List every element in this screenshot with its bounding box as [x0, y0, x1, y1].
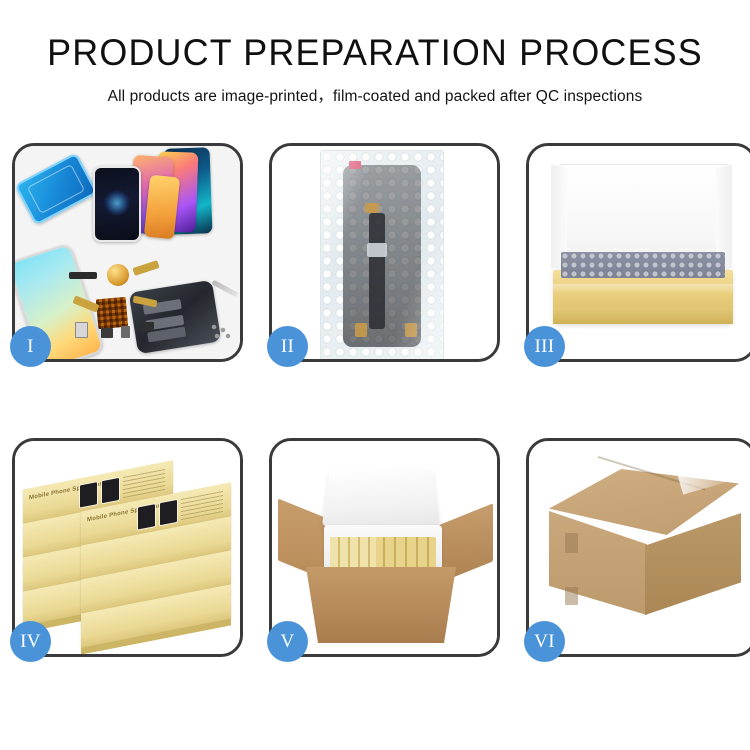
step-badge-5: V: [267, 621, 308, 662]
gold-contact-grid-icon: [96, 297, 129, 330]
driver-ic-icon: [367, 243, 387, 257]
step-1-illustration: [15, 146, 240, 359]
process-step-panel-2[interactable]: II: [269, 143, 500, 362]
tempered-glass-screen-icon: [93, 166, 141, 242]
flex-cable-icon-1: [132, 260, 159, 276]
screen-flex-cable-icon: [369, 213, 385, 329]
box-lip-highlight: [553, 284, 733, 294]
phone-back-housing-icon: [129, 280, 222, 354]
carton-tape-mark-1: [565, 533, 578, 553]
retail-box-thumbnail-2: [101, 477, 120, 505]
small-part-icon-1: [75, 322, 88, 338]
box-front-side: [553, 308, 733, 324]
gold-connector-icon-2: [355, 323, 367, 337]
yellow-inner-box-icon: [553, 270, 733, 324]
process-step-panel-3[interactable]: III: [526, 143, 750, 362]
step-4-illustration: Mobile Phone Spare Parts: [15, 441, 240, 654]
pink-qc-label-icon: [349, 161, 361, 169]
step-5-illustration: [272, 441, 497, 654]
step-2-illustration: [272, 146, 497, 359]
process-step-panel-6[interactable]: VI: [526, 438, 750, 657]
shipping-carton-icon: [306, 567, 456, 643]
retail-box-thumbnail-1: [79, 481, 98, 509]
gold-connector-icon-3: [405, 323, 417, 337]
process-step-grid: I II: [12, 143, 738, 657]
gold-connector-icon-1: [365, 203, 379, 213]
packed-boxes-left-group-icon: [330, 537, 376, 571]
process-step-panel-5[interactable]: V: [269, 438, 500, 657]
small-part-icon-3: [121, 326, 130, 338]
step-badge-2: II: [267, 326, 308, 367]
blue-protective-film-icon: [15, 152, 98, 225]
step-badge-1: I: [10, 326, 51, 367]
tweezers-icon: [211, 280, 238, 298]
speaker-module-icon: [69, 272, 97, 279]
step-badge-4: IV: [10, 621, 51, 662]
process-step-panel-4[interactable]: Mobile Phone Spare Parts: [12, 438, 243, 657]
page-header: PRODUCT PREPARATION PROCESS All products…: [0, 0, 750, 106]
gold-coil-part-icon: [107, 264, 129, 286]
small-part-icon-2: [101, 328, 113, 338]
screws-icon: [211, 324, 233, 340]
small-part-icon-4: [141, 322, 154, 331]
page-title: PRODUCT PREPARATION PROCESS: [11, 34, 739, 73]
step-badge-3: III: [524, 326, 565, 367]
foam-lid-icon: [322, 469, 441, 527]
retail-box-thumbnail-2: [159, 499, 178, 527]
step-badge-6: VI: [524, 621, 565, 662]
retail-box-stack: Mobile Phone Spare Parts: [23, 457, 237, 647]
retail-box-thumbnail-1: [137, 503, 156, 531]
step-6-illustration: [529, 441, 750, 654]
step-3-illustration: [529, 146, 750, 359]
bubble-wrap-icon: [320, 150, 444, 359]
carton-tape-mark-2: [565, 587, 578, 605]
page-subtitle: All products are image-printed，film-coat…: [0, 84, 750, 106]
bubble-wrapped-contents-icon: [561, 252, 725, 278]
process-step-panel-1[interactable]: I: [12, 143, 243, 362]
